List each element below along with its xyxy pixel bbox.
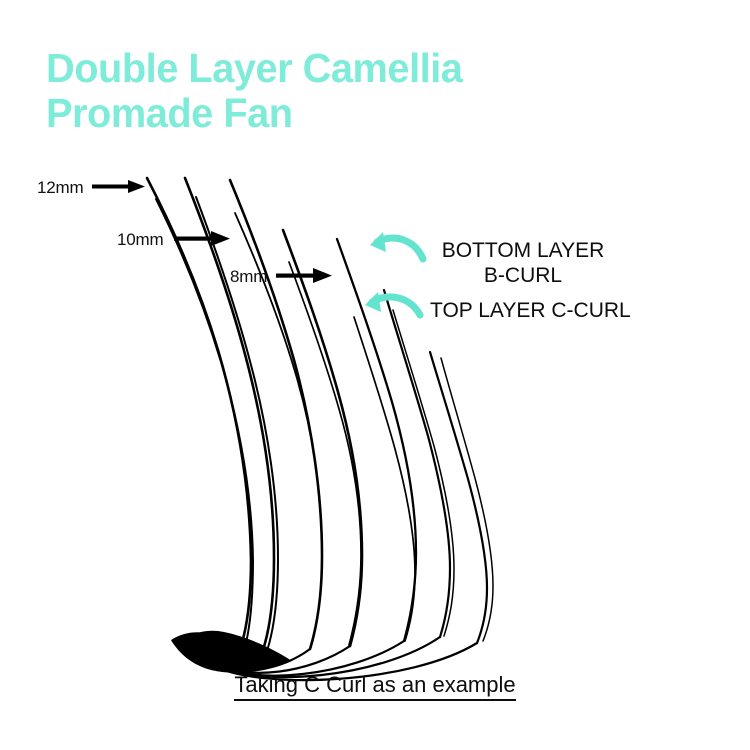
lash-strand xyxy=(354,317,415,641)
right-arrow-icon xyxy=(276,268,332,283)
lash-strand xyxy=(384,290,450,637)
lash-strand xyxy=(289,262,361,645)
length-label-10mm: 10mm xyxy=(117,230,163,250)
product-infographic: Double Layer Camellia Promade Fan xyxy=(0,0,750,750)
caption: Taking C Curl as an example xyxy=(0,672,750,698)
bottom-layer-label: BOTTOM LAYER B-CURL xyxy=(430,238,616,288)
length-label-8mm: 8mm xyxy=(230,267,267,287)
curved-left-arrow-icon xyxy=(365,292,420,315)
curved-left-arrow-icon xyxy=(370,232,423,259)
length-label-12mm: 12mm xyxy=(37,178,83,198)
lash-strand xyxy=(393,310,454,636)
lash-strand xyxy=(230,180,322,649)
right-arrow-icon xyxy=(92,180,145,193)
caption-text: Taking C Curl as an example xyxy=(234,672,515,701)
lash-strand xyxy=(185,178,274,650)
lash-strand xyxy=(283,230,362,646)
right-arrow-icon xyxy=(174,231,230,246)
lash-strand xyxy=(430,352,487,643)
lash-fan-illustration xyxy=(0,0,750,750)
top-layer-label: TOP LAYER C-CURL xyxy=(430,299,631,323)
curl-arrows-group xyxy=(365,232,423,315)
